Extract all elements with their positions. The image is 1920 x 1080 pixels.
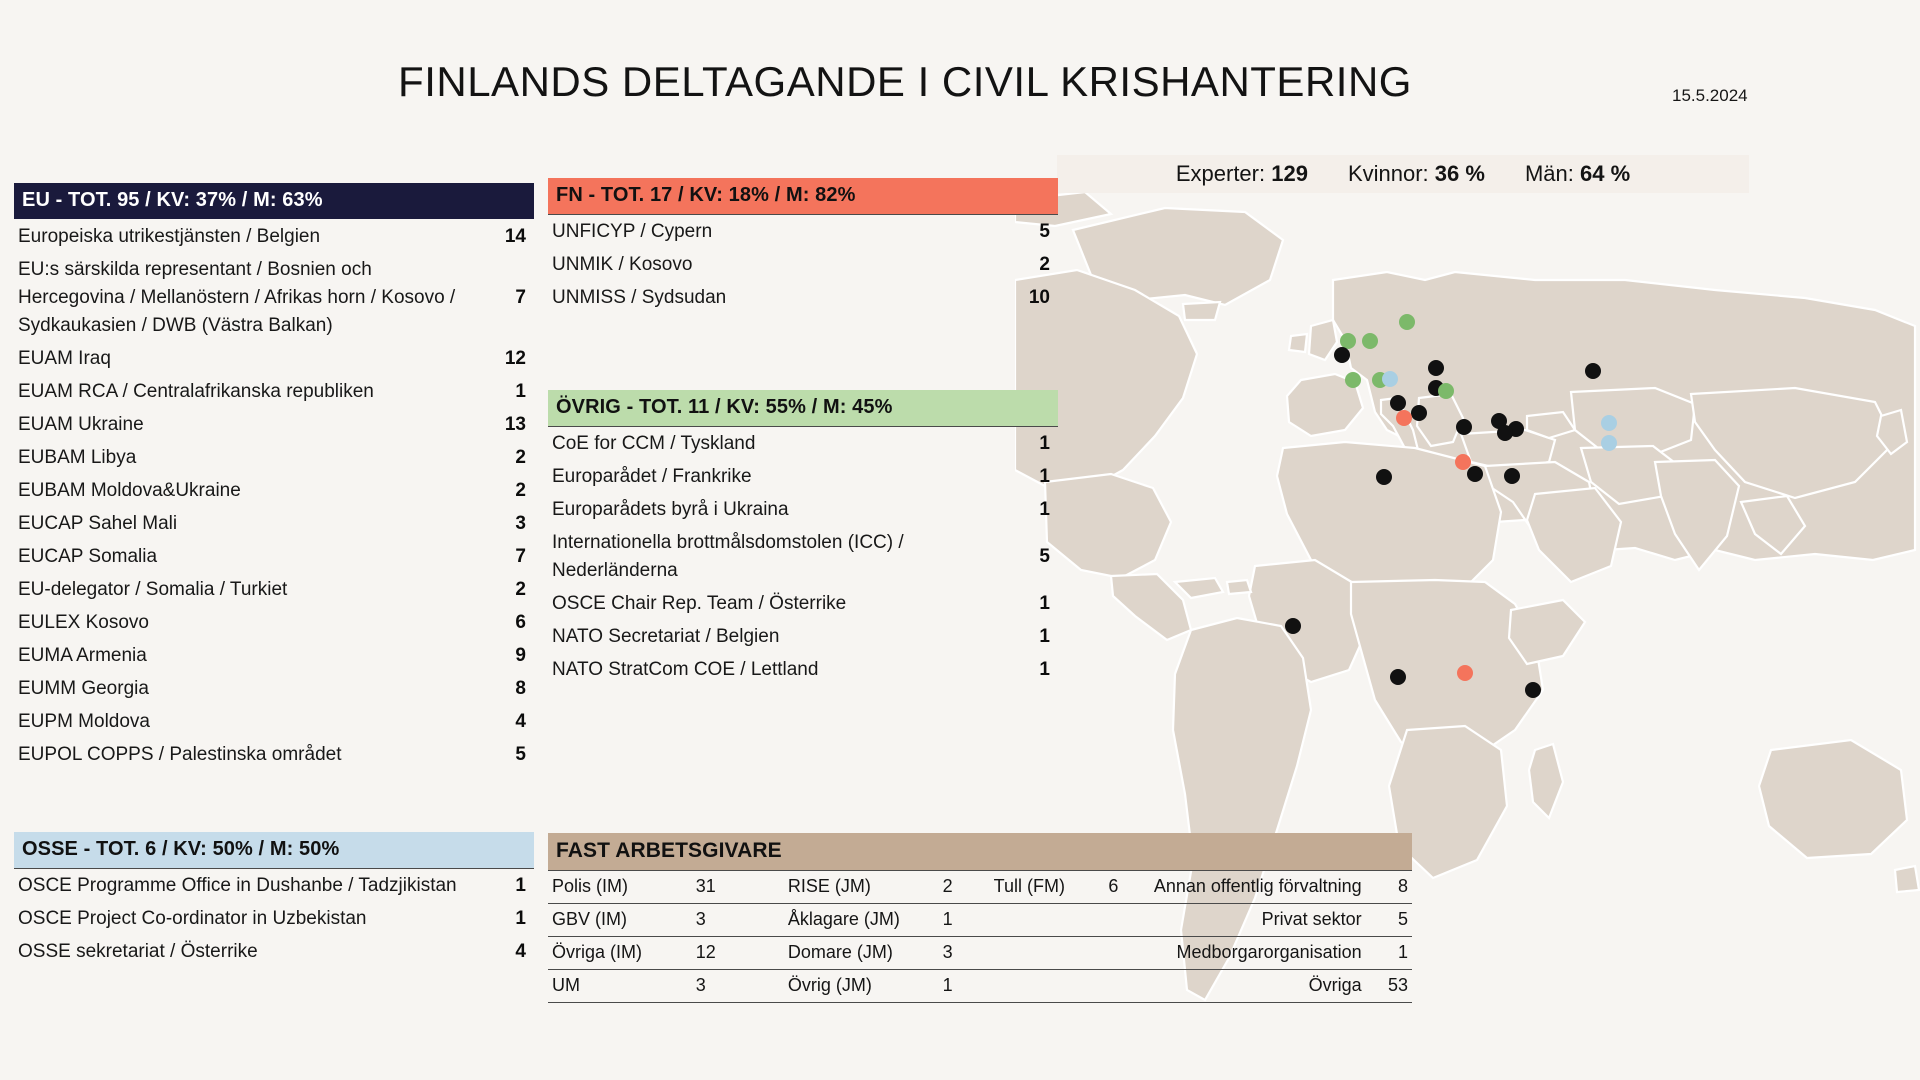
- employer-cell-2: 31: [692, 871, 784, 904]
- mission-label: OSSE sekretariat / Österrike: [14, 938, 472, 966]
- employer-cell-5: [990, 970, 1105, 1003]
- mission-count: 4: [472, 941, 534, 963]
- mission-count: 1: [996, 593, 1058, 615]
- panel-ovrig: ÖVRIG - TOT. 11 / KV: 55% / M: 45% CoE f…: [548, 390, 1058, 686]
- employer-cell-6: 6: [1104, 871, 1149, 904]
- mission-count: 9: [472, 645, 534, 667]
- mission-row: OSCE Programme Office in Dushanbe / Tadz…: [14, 869, 534, 902]
- mission-count: 2: [472, 447, 534, 469]
- panel-ovrig-rows: CoE for CCM / Tyskland1Europarådet / Fra…: [548, 426, 1058, 686]
- mission-label: OSCE Project Co-ordinator in Uzbekistan: [14, 905, 472, 933]
- mission-row: EUCAP Somalia7: [14, 540, 534, 573]
- panel-osse-header: OSSE - TOT. 6 / KV: 50% / M: 50%: [14, 832, 534, 868]
- map-mission-dot: [1428, 360, 1444, 376]
- experts-stat: Experter: 129: [1176, 161, 1308, 187]
- employer-cell-5: [990, 937, 1105, 970]
- employer-cell-8: 5: [1366, 904, 1412, 937]
- map-mission-dot: [1362, 333, 1378, 349]
- panel-fn-rows: UNFICYP / Cypern5UNMIK / Kosovo2UNMISS /…: [548, 214, 1058, 314]
- report-date: 15.5.2024: [1672, 86, 1748, 106]
- mission-label: EUPM Moldova: [14, 708, 472, 736]
- mission-row: EUAM RCA / Centralafrikanska republiken1: [14, 375, 534, 408]
- mission-label: EUAM RCA / Centralafrikanska republiken: [14, 378, 472, 406]
- map-mission-dot: [1411, 405, 1427, 421]
- experts-value: 129: [1271, 161, 1308, 186]
- mission-row: EUMM Georgia8: [14, 672, 534, 705]
- map-mission-dot: [1345, 372, 1361, 388]
- mission-label: EU-delegator / Somalia / Turkiet: [14, 576, 472, 604]
- mission-count: 1: [996, 433, 1058, 455]
- mission-row: UNFICYP / Cypern5: [548, 215, 1058, 248]
- employer-cell-8: 1: [1366, 937, 1412, 970]
- mission-row: UNMISS / Sydsudan10: [548, 281, 1058, 314]
- employer-cell-4: 2: [939, 871, 990, 904]
- map-mission-dot: [1585, 363, 1601, 379]
- mission-label: EUCAP Somalia: [14, 543, 472, 571]
- map-mission-dot: [1601, 415, 1617, 431]
- mission-row: EULEX Kosovo6: [14, 606, 534, 639]
- mission-count: 5: [472, 744, 534, 766]
- mission-label: UNFICYP / Cypern: [548, 218, 996, 246]
- mission-row: EUAM Iraq12: [14, 342, 534, 375]
- mission-row: OSCE Project Co-ordinator in Uzbekistan1: [14, 902, 534, 935]
- map-mission-dot: [1456, 419, 1472, 435]
- mission-label: EUMA Armenia: [14, 642, 472, 670]
- experts-label: Experter:: [1176, 161, 1265, 186]
- panel-fn-header: FN - TOT. 17 / KV: 18% / M: 82%: [548, 178, 1058, 214]
- employer-cell-1: UM: [548, 970, 692, 1003]
- employer-cell-7: Övriga: [1150, 970, 1366, 1003]
- mission-row: EUPOL COPPS / Palestinska området5: [14, 738, 534, 771]
- summary-stats-bar: Experter: 129 Kvinnor: 36 % Män: 64 %: [1057, 155, 1749, 193]
- employer-cell-3: Domare (JM): [784, 937, 939, 970]
- mission-row: EUBAM Libya2: [14, 441, 534, 474]
- employer-cell-5: [990, 904, 1105, 937]
- map-mission-dot: [1601, 435, 1617, 451]
- mission-count: 1: [472, 908, 534, 930]
- mission-count: 1: [472, 875, 534, 897]
- panel-osse-rows: OSCE Programme Office in Dushanbe / Tadz…: [14, 868, 534, 968]
- map-mission-dot: [1376, 469, 1392, 485]
- mission-label: UNMISS / Sydsudan: [548, 284, 996, 312]
- mission-count: 2: [472, 579, 534, 601]
- mission-row: EUPM Moldova4: [14, 705, 534, 738]
- mission-label: OSCE Chair Rep. Team / Österrike: [548, 590, 996, 618]
- employer-cell-7: Annan offentlig förvaltning: [1150, 871, 1366, 904]
- mission-label: OSCE Programme Office in Dushanbe / Tadz…: [14, 872, 472, 900]
- employer-cell-6: [1104, 904, 1149, 937]
- map-mission-dot: [1504, 468, 1520, 484]
- employer-cell-2: 12: [692, 937, 784, 970]
- employer-cell-3: Övrig (JM): [784, 970, 939, 1003]
- employer-cell-2: 3: [692, 904, 784, 937]
- mission-count: 5: [996, 221, 1058, 243]
- employer-cell-4: 1: [939, 970, 990, 1003]
- employer-cell-3: Åklagare (JM): [784, 904, 939, 937]
- mission-row: EUAM Ukraine13: [14, 408, 534, 441]
- employer-cell-8: 8: [1366, 871, 1412, 904]
- panel-fn: FN - TOT. 17 / KV: 18% / M: 82% UNFICYP …: [548, 178, 1058, 314]
- mission-count: 2: [472, 480, 534, 502]
- mission-label: Internationella brottmålsdomstolen (ICC)…: [548, 529, 996, 585]
- mission-row: EUBAM Moldova&Ukraine2: [14, 474, 534, 507]
- map-mission-dot: [1285, 618, 1301, 634]
- mission-row: EU-delegator / Somalia / Turkiet2: [14, 573, 534, 606]
- mission-row: EUCAP Sahel Mali3: [14, 507, 534, 540]
- men-value: 64 %: [1580, 161, 1630, 186]
- women-label: Kvinnor:: [1348, 161, 1429, 186]
- mission-count: 4: [472, 711, 534, 733]
- mission-count: 7: [472, 546, 534, 568]
- mission-count: 3: [472, 513, 534, 535]
- mission-label: CoE for CCM / Tyskland: [548, 430, 996, 458]
- mission-row: UNMIK / Kosovo2: [548, 248, 1058, 281]
- map-mission-dot: [1399, 314, 1415, 330]
- mission-row: EU:s särskilda representant / Bosnien oc…: [14, 253, 534, 342]
- employer-cell-4: 3: [939, 937, 990, 970]
- employers-table-body: Polis (IM)31RISE (JM)2Tull (FM)6Annan of…: [548, 871, 1412, 1003]
- mission-row: Europarådet / Frankrike1: [548, 460, 1058, 493]
- map-mission-dot: [1390, 395, 1406, 411]
- map-mission-dot: [1457, 665, 1473, 681]
- employer-cell-2: 3: [692, 970, 784, 1003]
- employer-cell-7: Medborgarorganisation: [1150, 937, 1366, 970]
- mission-label: EU:s särskilda representant / Bosnien oc…: [14, 256, 472, 340]
- mission-count: 6: [472, 612, 534, 634]
- mission-label: Europarådets byrå i Ukraina: [548, 496, 996, 524]
- mission-row: Europeiska utrikestjänsten / Belgien14: [14, 220, 534, 253]
- employer-row: GBV (IM)3Åklagare (JM)1Privat sektor5: [548, 904, 1412, 937]
- women-value: 36 %: [1435, 161, 1485, 186]
- mission-label: EUMM Georgia: [14, 675, 472, 703]
- mission-label: UNMIK / Kosovo: [548, 251, 996, 279]
- men-stat: Män: 64 %: [1525, 161, 1630, 187]
- mission-label: Europarådet / Frankrike: [548, 463, 996, 491]
- mission-label: NATO StratCom COE / Lettland: [548, 656, 996, 684]
- employer-cell-3: RISE (JM): [784, 871, 939, 904]
- mission-count: 10: [996, 287, 1058, 309]
- map-mission-dot: [1390, 669, 1406, 685]
- mission-row: Internationella brottmålsdomstolen (ICC)…: [548, 526, 1058, 587]
- mission-count: 13: [472, 414, 534, 436]
- employer-cell-7: Privat sektor: [1150, 904, 1366, 937]
- employers-table: Polis (IM)31RISE (JM)2Tull (FM)6Annan of…: [548, 870, 1412, 1003]
- map-mission-dot: [1438, 383, 1454, 399]
- mission-count: 1: [996, 466, 1058, 488]
- mission-label: EUCAP Sahel Mali: [14, 510, 472, 538]
- mission-label: EUPOL COPPS / Palestinska området: [14, 741, 472, 769]
- mission-label: EUAM Ukraine: [14, 411, 472, 439]
- panel-osse: OSSE - TOT. 6 / KV: 50% / M: 50% OSCE Pr…: [14, 832, 534, 968]
- mission-count: 5: [996, 546, 1058, 568]
- panel-eu: EU - TOT. 95 / KV: 37% / M: 63% Europeis…: [14, 183, 534, 771]
- mission-row: OSCE Chair Rep. Team / Österrike1: [548, 587, 1058, 620]
- mission-count: 7: [472, 287, 534, 309]
- mission-count: 1: [996, 499, 1058, 521]
- employer-cell-1: GBV (IM): [548, 904, 692, 937]
- map-mission-dot: [1396, 410, 1412, 426]
- employer-cell-6: [1104, 970, 1149, 1003]
- mission-label: Europeiska utrikestjänsten / Belgien: [14, 223, 472, 251]
- employer-row: Polis (IM)31RISE (JM)2Tull (FM)6Annan of…: [548, 871, 1412, 904]
- map-mission-dot: [1467, 466, 1483, 482]
- panel-eu-header: EU - TOT. 95 / KV: 37% / M: 63%: [14, 183, 534, 219]
- page-title: FINLANDS DELTAGANDE I CIVIL KRISHANTERIN…: [0, 58, 1810, 106]
- employer-cell-1: Polis (IM): [548, 871, 692, 904]
- mission-row: CoE for CCM / Tyskland1: [548, 427, 1058, 460]
- employer-cell-1: Övriga (IM): [548, 937, 692, 970]
- mission-count: 1: [996, 659, 1058, 681]
- employer-row: Övriga (IM)12Domare (JM)3Medborgarorgani…: [548, 937, 1412, 970]
- map-mission-dot: [1382, 371, 1398, 387]
- panel-employers: FAST ARBETSGIVARE Polis (IM)31RISE (JM)2…: [548, 833, 1412, 1003]
- panel-ovrig-header: ÖVRIG - TOT. 11 / KV: 55% / M: 45%: [548, 390, 1058, 426]
- employer-cell-5: Tull (FM): [990, 871, 1105, 904]
- map-mission-dot: [1497, 425, 1513, 441]
- mission-count: 12: [472, 348, 534, 370]
- mission-label: EUAM Iraq: [14, 345, 472, 373]
- panel-eu-rows: Europeiska utrikestjänsten / Belgien14EU…: [14, 219, 534, 771]
- mission-count: 2: [996, 254, 1058, 276]
- mission-row: NATO StratCom COE / Lettland1: [548, 653, 1058, 686]
- mission-label: EUBAM Moldova&Ukraine: [14, 477, 472, 505]
- panel-employers-header: FAST ARBETSGIVARE: [548, 833, 1412, 870]
- employer-cell-4: 1: [939, 904, 990, 937]
- mission-row: EUMA Armenia9: [14, 639, 534, 672]
- mission-count: 14: [472, 226, 534, 248]
- mission-row: OSSE sekretariat / Österrike4: [14, 935, 534, 968]
- mission-row: Europarådets byrå i Ukraina1: [548, 493, 1058, 526]
- mission-label: EULEX Kosovo: [14, 609, 472, 637]
- employer-cell-6: [1104, 937, 1149, 970]
- mission-count: 1: [996, 626, 1058, 648]
- women-stat: Kvinnor: 36 %: [1348, 161, 1485, 187]
- mission-row: NATO Secretariat / Belgien1: [548, 620, 1058, 653]
- mission-label: EUBAM Libya: [14, 444, 472, 472]
- mission-count: 8: [472, 678, 534, 700]
- map-mission-dot: [1525, 682, 1541, 698]
- employer-cell-8: 53: [1366, 970, 1412, 1003]
- employer-row: UM3Övrig (JM)1Övriga53: [548, 970, 1412, 1003]
- mission-label: NATO Secretariat / Belgien: [548, 623, 996, 651]
- men-label: Män:: [1525, 161, 1574, 186]
- map-mission-dot: [1334, 347, 1350, 363]
- mission-count: 1: [472, 381, 534, 403]
